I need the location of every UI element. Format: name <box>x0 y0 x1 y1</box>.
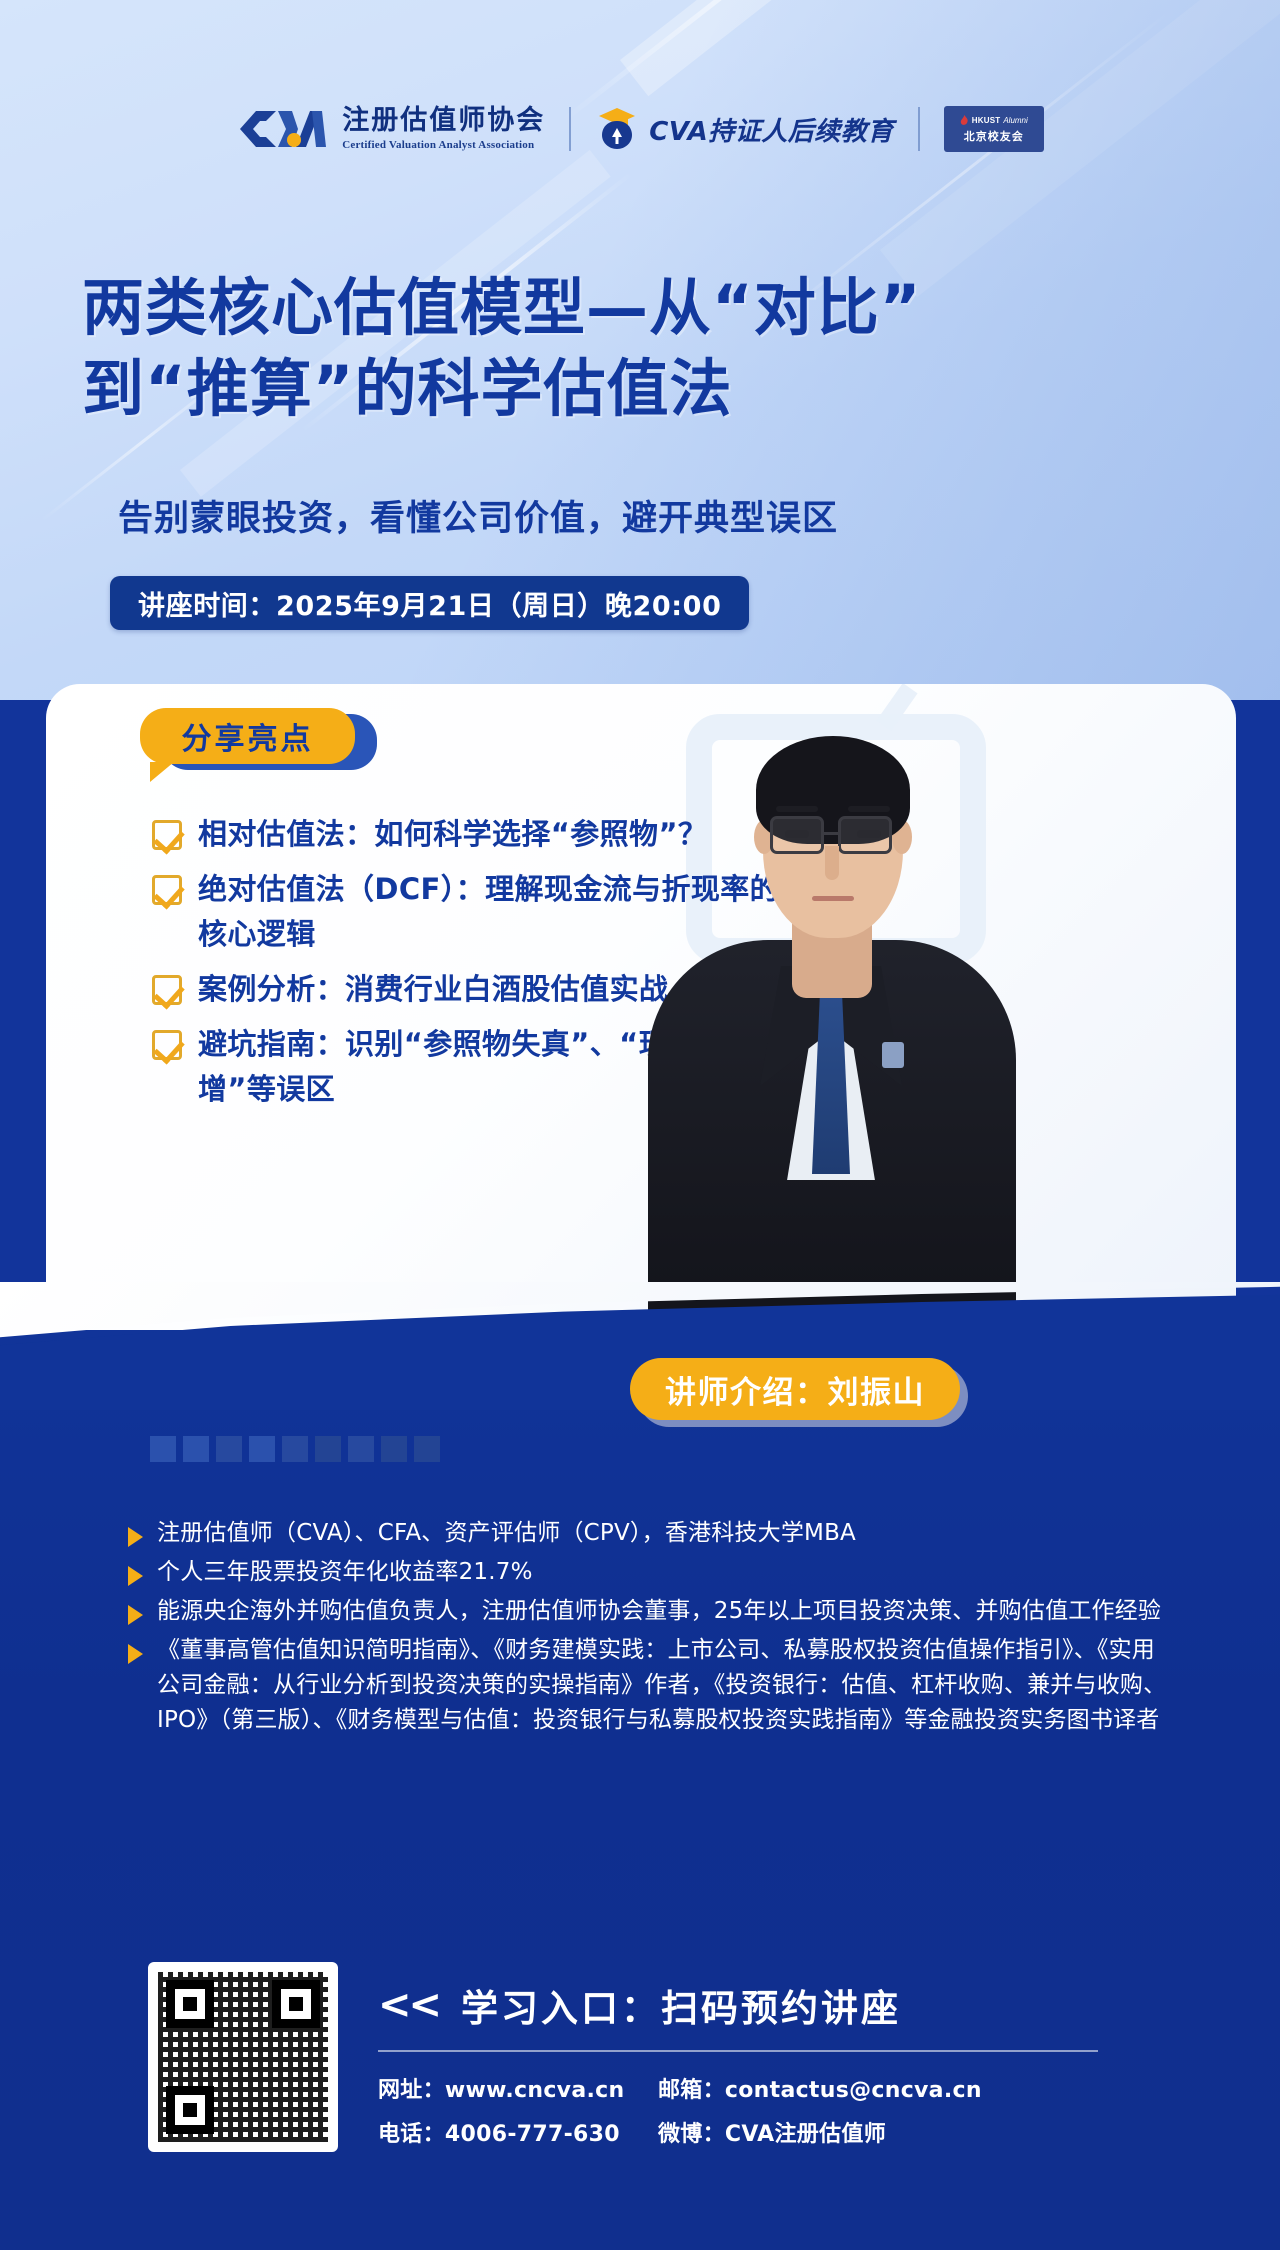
pixel-block <box>315 1436 341 1462</box>
flame-icon <box>960 115 969 126</box>
glasses-bridge-icon <box>824 832 838 835</box>
hkust-name: HKUST <box>972 116 1001 125</box>
weibo-label: 微博： <box>658 2122 725 2147</box>
header-logo-row: 注册估值师协会 Certified Valuation Analyst Asso… <box>0 98 1280 160</box>
speaker-badge: 讲师介绍：刘振山 <box>630 1358 960 1420</box>
checkbox-checked-icon <box>152 975 182 1005</box>
speaker-badge-label: 讲师介绍：刘振山 <box>665 1367 925 1412</box>
speaker-brow-left <box>776 806 818 812</box>
pixel-block <box>348 1436 374 1462</box>
list-item: 个人三年股票投资年化收益率21.7% <box>128 1555 1168 1590</box>
lecture-time-text: 讲座时间：2025年9月21日（周日）晚20:00 <box>138 584 721 623</box>
speaker-bio-list: 注册估值师（CVA）、CFA、资产评估师（CPV），香港科技大学MBA 个人三年… <box>128 1516 1168 1742</box>
email-label: 邮箱： <box>658 2078 725 2103</box>
checkbox-checked-icon <box>152 875 182 905</box>
highlights-badge-tail <box>150 762 174 782</box>
checkbox-checked-icon <box>152 820 182 850</box>
website-label: 网址： <box>378 2078 445 2103</box>
qr-finder-bottom-left <box>166 2086 214 2134</box>
triangle-bullet-icon <box>128 1566 143 1586</box>
bio-text: 《董事高管估值知识简明指南》、《财务建模实践：上市公司、私募股权投资估值操作指引… <box>157 1633 1168 1738</box>
qr-code[interactable] <box>148 1962 338 2152</box>
pixel-block <box>150 1436 176 1462</box>
title-line-1: 两类核心估值模型—从“对比” <box>82 268 1202 349</box>
pixel-block <box>216 1436 242 1462</box>
phone-label: 电话： <box>378 2122 445 2147</box>
phone-value[interactable]: 4006-777-630 <box>445 2122 620 2147</box>
triangle-bullet-icon <box>128 1527 143 1547</box>
checkbox-checked-icon <box>152 1030 182 1060</box>
footer-info: << 学习入口：扫码预约讲座 网址：www.cncva.cn 邮箱：contac… <box>378 1978 1178 2148</box>
cva-association-logo: 注册估值师协会 Certified Valuation Analyst Asso… <box>236 107 545 151</box>
website-row: 网址：www.cncva.cn <box>378 2072 636 2104</box>
email-row: 邮箱：contactus@cncva.cn <box>658 2072 1178 2104</box>
phone-row: 电话：4006-777-630 <box>378 2116 636 2148</box>
hero-title: 两类核心估值模型—从“对比” 到“推算”的科学估值法 <box>82 268 1202 429</box>
speaker-brow-right <box>848 806 890 812</box>
association-name-en: Certified Valuation Analyst Association <box>342 139 545 151</box>
hero-subtitle: 告别蒙眼投资，看懂公司价值，避开典型误区 <box>118 490 838 541</box>
highlights-badge-label: 分享亮点 <box>182 714 314 758</box>
list-item: 注册估值师（CVA）、CFA、资产评估师（CPV），香港科技大学MBA <box>128 1516 1168 1551</box>
title-line-2: 到“推算”的科学估值法 <box>82 349 1202 430</box>
bio-text: 能源央企海外并购估值负责人，注册估值师协会董事，25年以上项目投资决策、并购估值… <box>157 1594 1161 1629</box>
speaker-eye-right <box>857 830 881 838</box>
pixel-block <box>249 1436 275 1462</box>
speaker-eye-left <box>785 830 809 838</box>
footer-divider <box>378 2050 1098 2052</box>
cert-education-label: CVA持证人后续教育 <box>649 111 894 148</box>
bio-text: 注册估值师（CVA）、CFA、资产评估师（CPV），香港科技大学MBA <box>157 1516 856 1551</box>
hkust-alumni-badge: HKUST Alumni 北京校友会 <box>944 106 1044 152</box>
triangle-bullet-icon <box>128 1605 143 1625</box>
hkust-alumni-word: Alumni <box>1003 116 1027 125</box>
header-divider <box>918 107 920 151</box>
cva-logo-icon <box>236 107 328 151</box>
pixel-block <box>381 1436 407 1462</box>
header-divider <box>569 107 571 151</box>
speaker-lapel-pin <box>882 1042 904 1068</box>
email-value[interactable]: contactus@cncva.cn <box>725 2078 982 2103</box>
highlights-badge: 分享亮点 <box>140 708 355 764</box>
website-value[interactable]: www.cncva.cn <box>445 2078 625 2103</box>
chevron-left-icon: << <box>378 1982 439 2028</box>
bio-text: 个人三年股票投资年化收益率21.7% <box>157 1555 533 1590</box>
weibo-row: 微博：CVA注册估值师 <box>658 2116 1178 2148</box>
hkust-chapter-cn: 北京校友会 <box>964 128 1024 144</box>
pixel-block <box>183 1436 209 1462</box>
pixel-block <box>414 1436 440 1462</box>
pixel-block <box>282 1436 308 1462</box>
lecture-time-bar: 讲座时间：2025年9月21日（周日）晚20:00 <box>110 576 749 630</box>
list-item: 《董事高管估值知识简明指南》、《财务建模实践：上市公司、私募股权投资估值操作指引… <box>128 1633 1168 1738</box>
entry-cta[interactable]: << 学习入口：扫码预约讲座 <box>378 1978 1178 2032</box>
poster-root: 注册估值师协会 Certified Valuation Analyst Asso… <box>0 0 1280 2250</box>
contact-grid: 网址：www.cncva.cn 邮箱：contactus@cncva.cn 电话… <box>378 2072 1178 2148</box>
qr-finder-top-right <box>272 1980 320 2028</box>
list-item: 能源央企海外并购估值负责人，注册估值师协会董事，25年以上项目投资决策、并购估值… <box>128 1594 1168 1629</box>
triangle-bullet-icon <box>128 1644 143 1664</box>
highlight-text: 案例分析：消费行业白酒股估值实战 <box>198 967 668 1012</box>
speaker-mouth <box>812 896 854 901</box>
weibo-value[interactable]: CVA注册估值师 <box>725 2122 886 2147</box>
cert-education-logo: CVA持证人后续教育 <box>595 104 894 155</box>
speaker-nose <box>825 846 839 880</box>
qr-finder-top-left <box>166 1980 214 2028</box>
association-name-cn: 注册估值师协会 <box>342 107 545 135</box>
entry-cta-label: 学习入口：扫码预约讲座 <box>461 1978 901 2032</box>
graduation-pen-icon <box>595 104 639 155</box>
pixel-decor-strip <box>150 1436 440 1462</box>
